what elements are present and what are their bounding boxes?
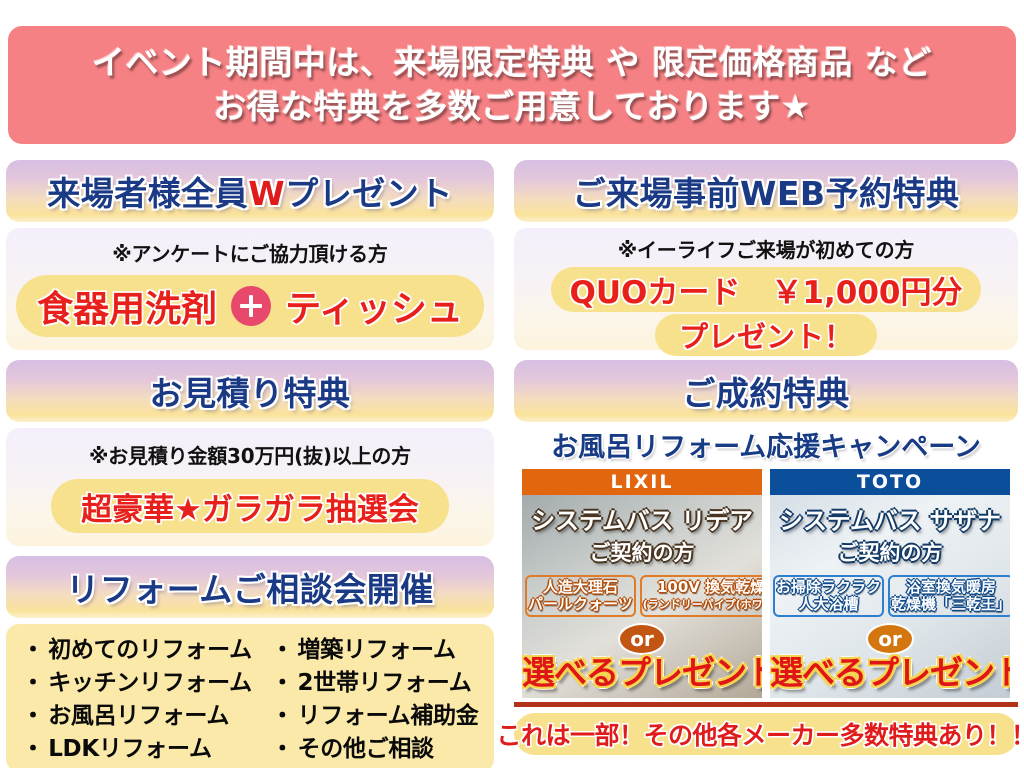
card-web-reservation-title: ご来場事前WEB予約特典 xyxy=(572,167,959,215)
card-estimate-title: お見積り特典 xyxy=(150,367,351,415)
divider-rule xyxy=(514,702,1018,707)
list-item: ・初めてのリフォーム xyxy=(22,634,252,666)
contract-subtitle: お風呂リフォーム応援キャンペーン xyxy=(514,425,1018,464)
plus-icon xyxy=(231,286,271,326)
contract-footer-label: これは一部！その他各メーカー多数特典あり！！ xyxy=(497,716,1024,752)
list-item-label: お風呂リフォーム xyxy=(48,703,229,729)
card-contract: ご成約特典 お風呂リフォーム応援キャンペーン LIXIL システムバス リデア … xyxy=(514,360,1018,755)
list-item: ・LDKリフォーム xyxy=(22,733,252,765)
estimate-note: ※お見積り金額30万円(抜)以上の方 xyxy=(89,440,411,469)
consultation-list-left: ・初めてのリフォーム ・キッチンリフォーム ・お風呂リフォーム ・LDKリフォー… xyxy=(22,634,252,765)
left-column: 来場者様全員Wプレゼント ※アンケートにご協力頂ける方 食器用洗剤 ティッシュ … xyxy=(0,160,500,768)
list-item-label: 初めてのリフォーム xyxy=(48,637,252,663)
lixil-option-2-line-1: 100V 換気乾燥暖房機 xyxy=(643,579,764,596)
benefit-grid: 来場者様全員Wプレゼント ※アンケートにご協力頂ける方 食器用洗剤 ティッシュ … xyxy=(0,160,1024,768)
event-banner: イベント期間中は、来場限定特典 や 限定価格商品 など お得な特典を多数ご用意し… xyxy=(8,26,1016,144)
contract-footer-strip: これは一部！その他各メーカー多数特典あり！！ xyxy=(514,713,1018,755)
lixil-choose-label: 選べるプレゼント! xyxy=(522,653,764,692)
bullet-marker-icon: ・ xyxy=(22,703,45,729)
card-contract-header: ご成約特典 xyxy=(514,360,1018,422)
list-item: ・2世帯リフォーム xyxy=(271,667,479,699)
bullet-marker-icon: ・ xyxy=(271,637,294,663)
right-column: ご来場事前WEB予約特典 ※イーライフご来場が初めての方 QUOカード ￥1,0… xyxy=(500,160,1024,768)
consultation-list-right: ・増築リフォーム ・2世帯リフォーム ・リフォーム補助金 ・その他ご相談 xyxy=(271,634,479,765)
toto-option-1-line-1: お掃除ラクラク xyxy=(776,579,881,596)
toto-option-1-line-2: 人大浴槽 xyxy=(776,596,881,613)
list-item-label: 2世帯リフォーム xyxy=(298,670,472,696)
toto-option-2: 浴室換気暖房 乾燥機「三乾王」 xyxy=(888,575,1012,617)
estimate-prize-pill: 超豪華★ガラガラ抽選会 xyxy=(51,479,449,533)
all-visitors-note: ※アンケートにご協力頂ける方 xyxy=(112,238,387,267)
brand-panel-lixil: LIXIL システムバス リデア ご契約の方 人造大理石 パールクォーツ 100… xyxy=(520,467,764,700)
toto-contract-note: ご契約の方 xyxy=(770,537,1010,567)
banner-line-1: イベント期間中は、来場限定特典 や 限定価格商品 など xyxy=(92,41,932,85)
title-part-accent: W xyxy=(248,174,285,213)
toto-option-2-line-1: 浴室換気暖房 xyxy=(891,579,1011,596)
brand-name-toto: TOTO xyxy=(770,469,1010,495)
card-consultation: リフォームご相談会開催 ・初めてのリフォーム ・キッチンリフォーム ・お風呂リフ… xyxy=(6,556,494,768)
card-estimate-body: ※お見積り金額30万円(抜)以上の方 超豪華★ガラガラ抽選会 xyxy=(6,428,494,546)
list-item-label: 増築リフォーム xyxy=(298,637,456,663)
brand-name-lixil: LIXIL xyxy=(522,469,762,495)
list-item-label: その他ご相談 xyxy=(298,736,434,762)
estimate-prize-label: 超豪華★ガラガラ抽選会 xyxy=(81,484,419,529)
card-consultation-header: リフォームご相談会開催 xyxy=(6,556,494,618)
lixil-product-name: システムバス リデア xyxy=(522,501,762,536)
list-item-label: キッチンリフォーム xyxy=(48,670,252,696)
toto-options: お掃除ラクラク 人大浴槽 浴室換気暖房 乾燥機「三乾王」 xyxy=(770,575,1010,617)
card-all-visitors-title: 来場者様全員Wプレゼント xyxy=(47,167,452,215)
card-consultation-body: ・初めてのリフォーム ・キッチンリフォーム ・お風呂リフォーム ・LDKリフォー… xyxy=(6,624,494,768)
gift-right-label: ティッシュ xyxy=(285,280,463,332)
lixil-contract-note: ご契約の方 xyxy=(522,537,762,567)
card-all-visitors: 来場者様全員Wプレゼント ※アンケートにご協力頂ける方 食器用洗剤 ティッシュ xyxy=(6,160,494,350)
lixil-option-2-line-2: (ランドリーパイプ(ホワイト)1本付) xyxy=(643,596,764,613)
toto-option-1: お掃除ラクラク 人大浴槽 xyxy=(773,575,884,617)
list-item: ・キッチンリフォーム xyxy=(22,667,252,699)
banner-line-2: お得な特典を多数ご用意しております★ xyxy=(213,85,811,129)
lixil-choose-banner: 選べるプレゼント! xyxy=(522,646,762,694)
list-item: ・リフォーム補助金 xyxy=(271,700,479,732)
quo-card-pill: QUOカード ￥1,000円分 xyxy=(551,267,981,312)
list-item: ・増築リフォーム xyxy=(271,634,479,666)
lixil-option-2: 100V 換気乾燥暖房機 (ランドリーパイプ(ホワイト)1本付) xyxy=(640,575,764,617)
toto-option-2-line-2: 乾燥機「三乾王」 xyxy=(891,596,1011,613)
brand-panel-toto: TOTO システムバス サザナ ご契約の方 お掃除ラクラク 人大浴槽 浴室換気暖… xyxy=(768,467,1012,700)
brand-panels: LIXIL システムバス リデア ご契約の方 人造大理石 パールクォーツ 100… xyxy=(514,467,1018,700)
list-item: ・その他ご相談 xyxy=(271,733,479,765)
lixil-options: 人造大理石 パールクォーツ 100V 換気乾燥暖房機 (ランドリーパイプ(ホワイ… xyxy=(522,575,762,617)
card-all-visitors-body: ※アンケートにご協力頂ける方 食器用洗剤 ティッシュ xyxy=(6,228,494,350)
web-reservation-note: ※イーライフご来場が初めての方 xyxy=(618,234,914,263)
bullet-marker-icon: ・ xyxy=(271,703,294,729)
card-web-reservation-body: ※イーライフご来場が初めての方 QUOカード ￥1,000円分 プレゼント！ xyxy=(514,228,1018,350)
present-pill: プレゼント！ xyxy=(655,314,877,356)
title-part-pre: 来場者様全員 xyxy=(47,174,248,213)
list-item-label: LDKリフォーム xyxy=(48,736,211,762)
toto-choose-label: 選べるプレゼント! xyxy=(770,653,1012,692)
toto-choose-banner: 選べるプレゼント! xyxy=(770,646,1010,694)
card-estimate-header: お見積り特典 xyxy=(6,360,494,422)
toto-product-name: システムバス サザナ xyxy=(770,501,1010,536)
bullet-marker-icon: ・ xyxy=(271,736,294,762)
bullet-marker-icon: ・ xyxy=(22,736,45,762)
flyer-page: イベント期間中は、来場限定特典 や 限定価格商品 など お得な特典を多数ご用意し… xyxy=(0,0,1024,768)
card-web-reservation: ご来場事前WEB予約特典 ※イーライフご来場が初めての方 QUOカード ￥1,0… xyxy=(514,160,1018,350)
card-all-visitors-header: 来場者様全員Wプレゼント xyxy=(6,160,494,222)
bullet-marker-icon: ・ xyxy=(22,670,45,696)
title-part-post: プレゼント xyxy=(285,174,453,213)
card-contract-title: ご成約特典 xyxy=(682,367,850,415)
card-estimate: お見積り特典 ※お見積り金額30万円(抜)以上の方 超豪華★ガラガラ抽選会 xyxy=(6,360,494,546)
bullet-marker-icon: ・ xyxy=(22,637,45,663)
quo-card-label: QUOカード ￥1,000円分 xyxy=(570,267,963,312)
gift-left-label: 食器用洗剤 xyxy=(37,280,217,332)
list-item: ・お風呂リフォーム xyxy=(22,700,252,732)
present-label: プレゼント！ xyxy=(679,314,853,356)
list-item-label: リフォーム補助金 xyxy=(298,703,479,729)
all-visitors-gift-pill: 食器用洗剤 ティッシュ xyxy=(16,275,484,337)
lixil-option-1-line-1: 人造大理石 xyxy=(528,579,633,596)
lixil-option-1-line-2: パールクォーツ xyxy=(528,596,633,613)
card-consultation-title: リフォームご相談会開催 xyxy=(66,563,434,611)
lixil-option-1: 人造大理石 パールクォーツ xyxy=(525,575,636,617)
card-web-reservation-header: ご来場事前WEB予約特典 xyxy=(514,160,1018,222)
bullet-marker-icon: ・ xyxy=(271,670,294,696)
